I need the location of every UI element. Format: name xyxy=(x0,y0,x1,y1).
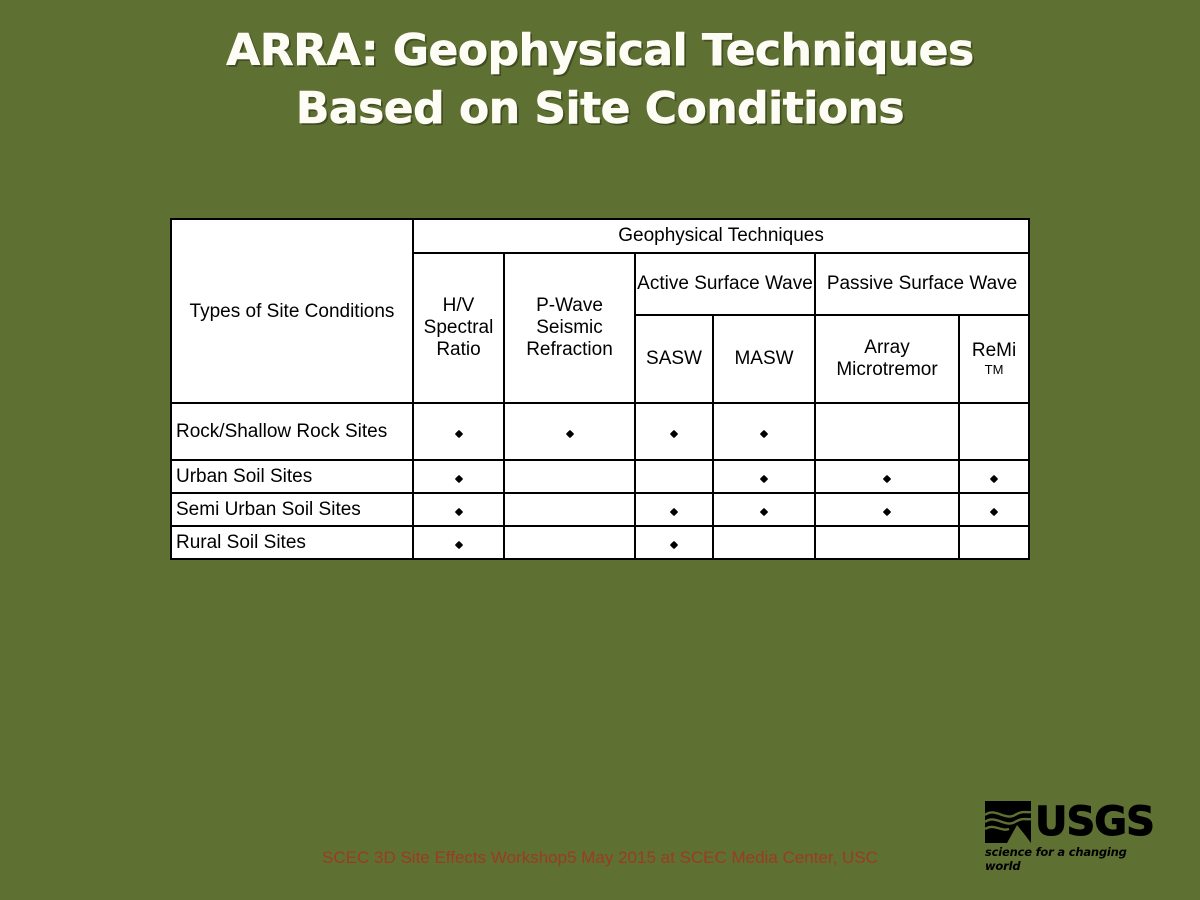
table-row: Rock/Shallow Rock Sites xyxy=(171,403,1029,460)
cell-urban-array xyxy=(815,460,959,493)
header-group-active-surface-wave: Active Surface Wave xyxy=(635,253,815,315)
cell-urban-masw xyxy=(713,460,815,493)
cell-rock-hv xyxy=(413,403,504,460)
cell-urban-hv xyxy=(413,460,504,493)
cell-semiurban-masw xyxy=(713,493,815,526)
mark-dot xyxy=(454,507,462,515)
mark-dot xyxy=(670,540,678,548)
mark-dot xyxy=(883,507,891,515)
cell-rural-masw xyxy=(713,526,815,559)
techniques-matrix-table: Types of Site Conditions Geophysical Tec… xyxy=(170,218,1030,560)
page-title: ARRA: Geophysical Techniques Based on Si… xyxy=(0,22,1200,138)
cell-rural-sasw xyxy=(635,526,713,559)
cell-urban-pwave xyxy=(504,460,635,493)
header-col-sasw: SASW xyxy=(635,315,713,403)
cell-rural-pwave xyxy=(504,526,635,559)
header-col-masw: MASW xyxy=(713,315,815,403)
header-col-p-wave-seismic-refraction: P-Wave Seismic Refraction xyxy=(504,253,635,403)
cell-semiurban-hv xyxy=(413,493,504,526)
page-title-line-1: ARRA: Geophysical Techniques xyxy=(0,22,1200,80)
header-geophysical-techniques: Geophysical Techniques xyxy=(413,219,1029,253)
row-label-urban-soil-sites: Urban Soil Sites xyxy=(171,460,413,493)
corner-header-types-of-site-conditions: Types of Site Conditions xyxy=(171,219,413,403)
header-col-remi: ReMi TM xyxy=(959,315,1029,403)
usgs-logo: USGS science for a changing world xyxy=(985,800,1150,862)
cell-rock-masw xyxy=(713,403,815,460)
mark-dot xyxy=(883,474,891,482)
techniques-table-container: Types of Site Conditions Geophysical Tec… xyxy=(170,218,1028,560)
usgs-wordmark: USGS xyxy=(1035,802,1154,842)
cell-rock-sasw xyxy=(635,403,713,460)
mark-dot xyxy=(565,429,573,437)
trademark-mark: TM xyxy=(960,362,1028,378)
mark-dot xyxy=(990,474,998,482)
header-col-array-microtremor: Array Microtremor xyxy=(815,315,959,403)
mark-dot xyxy=(670,429,678,437)
cell-rock-pwave xyxy=(504,403,635,460)
cell-rural-array xyxy=(815,526,959,559)
usgs-tagline: science for a changing world xyxy=(985,845,1150,873)
cell-rock-array xyxy=(815,403,959,460)
usgs-logo-row: USGS xyxy=(985,800,1150,844)
header-group-passive-surface-wave: Passive Surface Wave xyxy=(815,253,1029,315)
header-col-hv-spectral-ratio: H/V Spectral Ratio xyxy=(413,253,504,403)
row-label-rock-shallow-rock-sites: Rock/Shallow Rock Sites xyxy=(171,403,413,460)
header-row-top: Types of Site Conditions Geophysical Tec… xyxy=(171,219,1029,253)
table-row: Rural Soil Sites xyxy=(171,526,1029,559)
cell-semiurban-remi xyxy=(959,493,1029,526)
mark-dot xyxy=(760,474,768,482)
header-col-remi-label: ReMi xyxy=(972,340,1016,361)
cell-urban-remi xyxy=(959,460,1029,493)
cell-rural-hv xyxy=(413,526,504,559)
table-row: Semi Urban Soil Sites xyxy=(171,493,1029,526)
mark-dot xyxy=(760,507,768,515)
cell-semiurban-array xyxy=(815,493,959,526)
cell-semiurban-sasw xyxy=(635,493,713,526)
cell-rural-remi xyxy=(959,526,1029,559)
mark-dot xyxy=(990,507,998,515)
mark-dot xyxy=(454,429,462,437)
table-row: Urban Soil Sites xyxy=(171,460,1029,493)
row-label-rural-soil-sites: Rural Soil Sites xyxy=(171,526,413,559)
mark-dot xyxy=(670,507,678,515)
mark-dot xyxy=(454,540,462,548)
mark-dot xyxy=(760,429,768,437)
row-label-semi-urban-soil-sites: Semi Urban Soil Sites xyxy=(171,493,413,526)
page-title-line-2: Based on Site Conditions xyxy=(0,80,1200,138)
cell-urban-sasw xyxy=(635,460,713,493)
cell-semiurban-pwave xyxy=(504,493,635,526)
usgs-wave-mark-icon xyxy=(985,801,1031,843)
cell-rock-remi xyxy=(959,403,1029,460)
mark-dot xyxy=(454,474,462,482)
